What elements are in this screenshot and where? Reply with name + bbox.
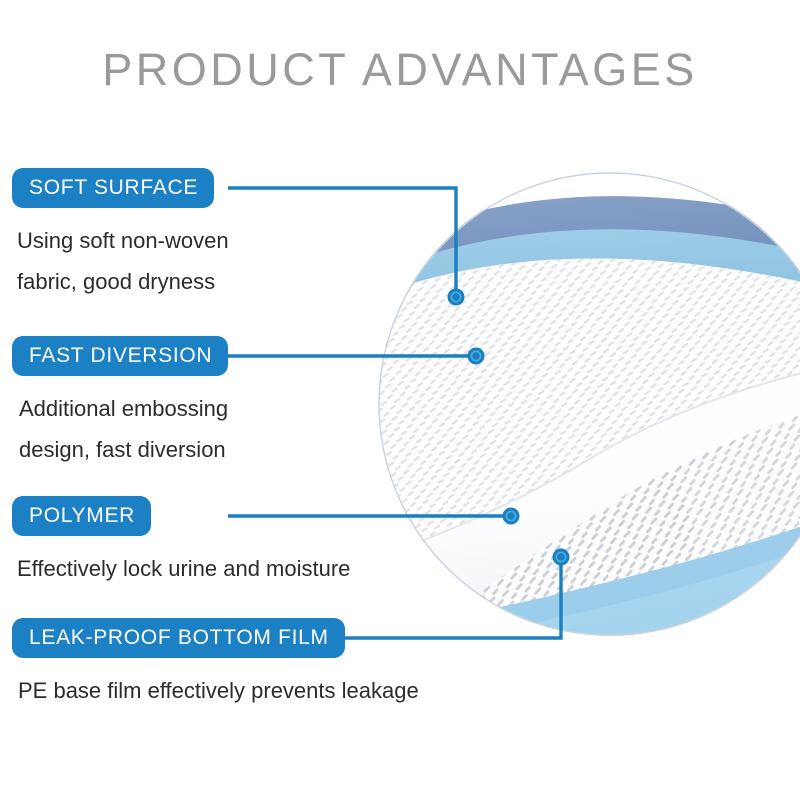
feature-description-line: fabric, good dryness xyxy=(17,261,229,302)
product-photo-illustration xyxy=(378,172,800,636)
feature-fast-diversion: FAST DIVERSION Additional embossing desi… xyxy=(12,336,228,470)
page-title: PRODUCT ADVANTAGES xyxy=(0,42,800,98)
feature-badge-soft-surface[interactable]: SOFT SURFACE xyxy=(12,168,214,208)
feature-soft-surface: SOFT SURFACE Using soft non-woven fabric… xyxy=(12,168,229,302)
feature-description-line: Effectively lock urine and moisture xyxy=(17,548,350,589)
feature-description-fast-diversion: Additional embossing design, fast divers… xyxy=(19,388,228,470)
feature-description-line: PE base film effectively prevents leakag… xyxy=(18,670,419,711)
feature-description-line: design, fast diversion xyxy=(19,429,228,470)
feature-badge-fast-diversion[interactable]: FAST DIVERSION xyxy=(12,336,228,376)
feature-description-leak-proof: PE base film effectively prevents leakag… xyxy=(18,670,419,711)
feature-description-soft-surface: Using soft non-woven fabric, good drynes… xyxy=(17,220,229,302)
product-photo xyxy=(378,172,800,636)
feature-leak-proof: LEAK-PROOF BOTTOM FILM PE base film effe… xyxy=(12,618,419,711)
feature-description-line: Additional embossing xyxy=(19,388,228,429)
feature-polymer: POLYMER Effectively lock urine and moist… xyxy=(12,496,350,589)
feature-description-line: Using soft non-woven xyxy=(17,220,229,261)
feature-description-polymer: Effectively lock urine and moisture xyxy=(17,548,350,589)
feature-badge-polymer[interactable]: POLYMER xyxy=(12,496,151,536)
product-advantages-poster: PRODUCT ADVANTAGES xyxy=(0,0,800,800)
feature-badge-leak-proof-bottom-film[interactable]: LEAK-PROOF BOTTOM FILM xyxy=(12,618,345,658)
